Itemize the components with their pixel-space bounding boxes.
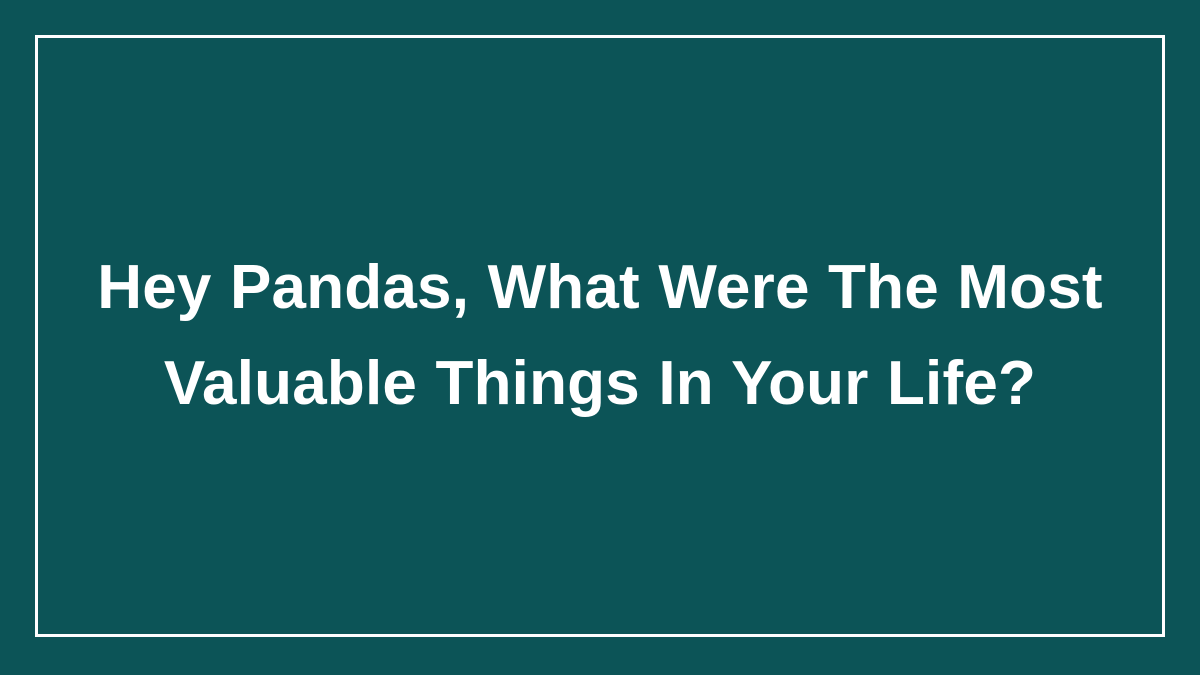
- page-title: Hey Pandas, What Were The Most Valuable …: [61, 240, 1139, 432]
- title-card: Hey Pandas, What Were The Most Valuable …: [0, 0, 1200, 675]
- page-title-line-1: Hey Pandas, What Were The Most: [61, 240, 1139, 336]
- page-title-line-2: Valuable Things In Your Life?: [61, 336, 1139, 432]
- headline-block: Hey Pandas, What Were The Most Valuable …: [35, 35, 1165, 637]
